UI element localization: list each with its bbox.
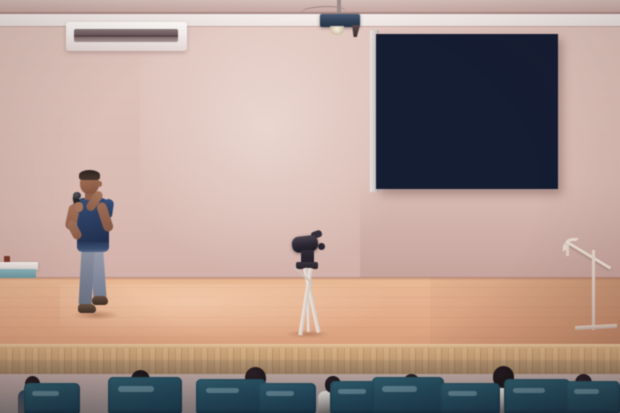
wall-shadow: [360, 180, 620, 280]
projection-screen: texto texto Sputnik: [376, 34, 558, 189]
auditorium-seat: [504, 379, 570, 413]
presenter-shoe: [78, 304, 96, 313]
telescope-focus-knob: [318, 243, 325, 250]
presenter-shirt-hem: [77, 242, 109, 252]
presenter-hand: [74, 202, 83, 212]
audience-area: [0, 360, 620, 413]
auditorium-seat: [566, 381, 620, 413]
side-table-skirt: [0, 269, 36, 278]
auditorium-seat: [196, 379, 266, 413]
handrail-post: [566, 244, 569, 256]
auditorium-seat: [108, 377, 182, 413]
auditorium-photo: texto texto Sputnik: [0, 0, 620, 413]
presenter-ear: [97, 181, 102, 187]
air-conditioner: [66, 22, 187, 51]
auditorium-seat: [440, 383, 500, 413]
auditorium-seat: [24, 383, 80, 413]
presenter: [60, 168, 132, 340]
presenter-hair: [79, 170, 100, 180]
auditorium-seat: [372, 377, 444, 413]
air-conditioner-grill-icon: [74, 29, 178, 42]
presenter-shoe: [92, 296, 108, 305]
auditorium-seat: [258, 383, 316, 413]
handrail-post: [592, 250, 595, 330]
microphone-capsule: [73, 192, 81, 199]
